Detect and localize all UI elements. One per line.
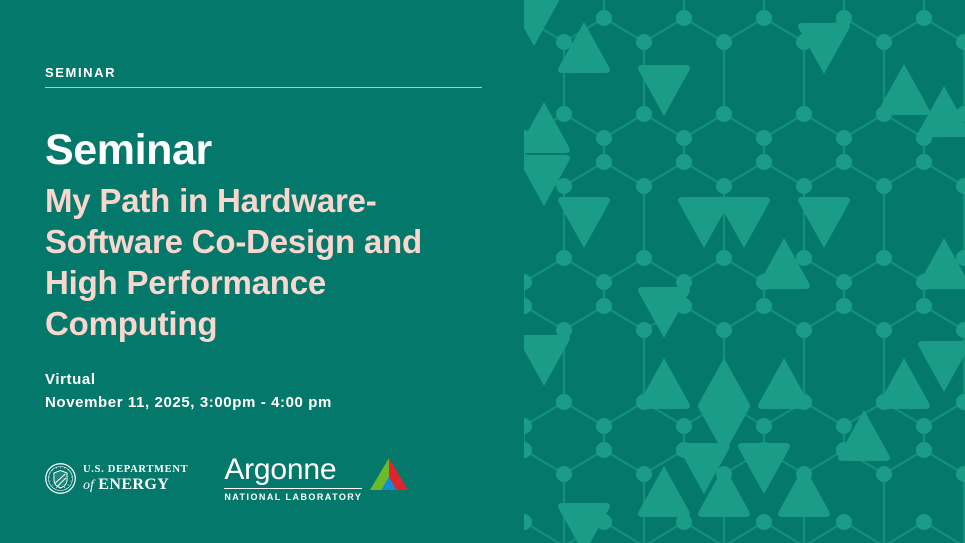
- doe-energy-text: of ENERGY: [83, 476, 188, 494]
- event-location: Virtual: [45, 369, 332, 392]
- molecular-lattice-pattern: [524, 0, 965, 543]
- logo-row: U.S. DEPARTMENT of ENERGY Argonne NATION…: [45, 455, 409, 502]
- doe-department-text: U.S. DEPARTMENT: [83, 464, 188, 476]
- argonne-wordmark: Argonne: [224, 455, 362, 489]
- event-datetime: November 11, 2025, 3:00pm - 4:00 pm: [45, 392, 332, 415]
- argonne-triangle-icon: [369, 457, 409, 496]
- argonne-tagline: NATIONAL LABORATORY: [224, 489, 362, 502]
- doe-logo: U.S. DEPARTMENT of ENERGY: [45, 463, 188, 494]
- page-title: Seminar: [45, 128, 485, 174]
- divider-rule: [45, 87, 482, 88]
- seminar-poster: SEMINAR Seminar My Path in Hardware-Soft…: [0, 0, 965, 543]
- page-subtitle: My Path in Hardware-Software Co-Design a…: [45, 180, 485, 345]
- eyebrow-label: SEMINAR: [45, 66, 482, 80]
- argonne-wordmark-group: Argonne NATIONAL LABORATORY: [224, 455, 362, 502]
- event-meta: Virtual November 11, 2025, 3:00pm - 4:00…: [45, 369, 332, 414]
- content-column: SEMINAR Seminar My Path in Hardware-Soft…: [45, 0, 515, 543]
- doe-energy-word: ENERGY: [98, 476, 169, 493]
- doe-wordmark: U.S. DEPARTMENT of ENERGY: [83, 464, 188, 494]
- title-block: Seminar My Path in Hardware-Software Co-…: [45, 128, 485, 345]
- doe-seal-icon: [45, 463, 76, 494]
- doe-of-text: of: [83, 478, 94, 493]
- argonne-logo: Argonne NATIONAL LABORATORY: [224, 455, 409, 502]
- eyebrow-section: SEMINAR: [45, 66, 482, 88]
